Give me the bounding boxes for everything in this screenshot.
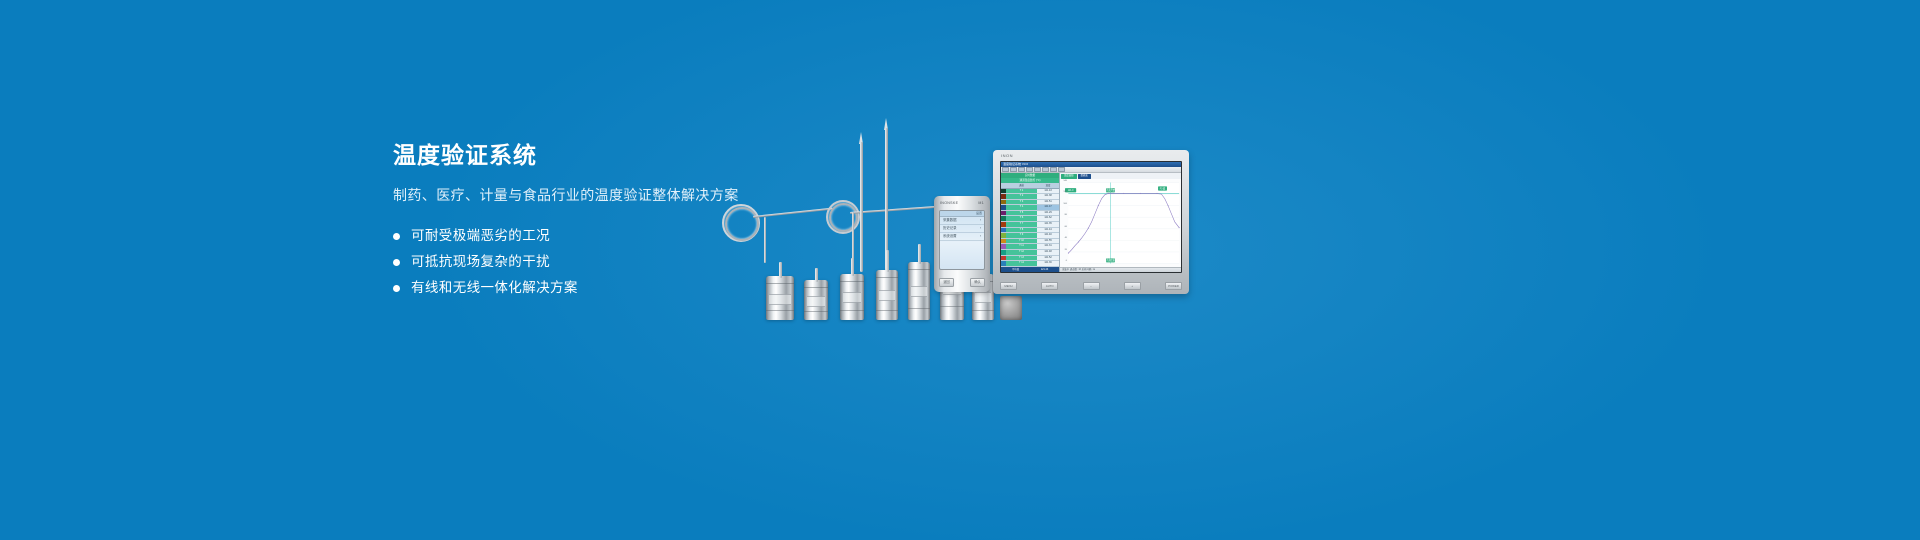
logger-stem bbox=[918, 244, 921, 264]
data-point bbox=[1078, 242, 1079, 243]
channel-value: 121.55 bbox=[1037, 239, 1059, 244]
monitor-auto-button[interactable]: AUTO bbox=[1041, 282, 1058, 290]
monitor-power-button[interactable]: POWER bbox=[1165, 282, 1182, 290]
table-footer: 平均值 121.43 bbox=[1001, 267, 1059, 272]
feature-label: 有线和无线一体化解决方案 bbox=[411, 275, 578, 301]
logger-label bbox=[843, 292, 861, 303]
menu-item-label: 采集数据 bbox=[943, 217, 957, 224]
y-axis-ticks: 140120100806040200 bbox=[1060, 179, 1068, 263]
annotation-label: 灭菌开始 bbox=[1106, 188, 1115, 192]
toolbar-print-button[interactable] bbox=[1050, 167, 1057, 173]
table-row bbox=[840, 274, 864, 320]
logger-label bbox=[879, 290, 896, 301]
toolbar-settings-button[interactable] bbox=[1058, 167, 1065, 173]
footer-label: 平均值 bbox=[1001, 267, 1030, 272]
needle-probe bbox=[860, 142, 863, 272]
logger-label bbox=[975, 292, 992, 303]
channel-value: 121.43 bbox=[1037, 189, 1059, 194]
toolbar-start-button[interactable] bbox=[1026, 167, 1033, 173]
logger-band bbox=[876, 310, 898, 311]
monitor-screen: 温度验证系统 V3.0 实时数据 通道 bbox=[1001, 162, 1181, 272]
channel-name: T 10 bbox=[1006, 239, 1037, 244]
channel-name: T 3 bbox=[1006, 200, 1037, 205]
logger-cap bbox=[840, 274, 864, 282]
y-axis-tick-label: 140 bbox=[1063, 180, 1067, 182]
logger-band bbox=[940, 306, 964, 307]
y-axis-tick-label: 20 bbox=[1065, 249, 1067, 251]
data-point bbox=[1140, 193, 1141, 194]
annotation-label: 121.0 bbox=[1068, 189, 1074, 192]
handheld-reader[interactable]: INONSKE M1 设置 采集数据 › 历史记录 › 系统设置 › bbox=[934, 196, 990, 292]
monitor-button-row: MENU AUTO − + POWER bbox=[1000, 282, 1182, 290]
monitor-plus-button[interactable]: + bbox=[1124, 282, 1141, 290]
logger-label bbox=[807, 296, 825, 307]
data-point bbox=[1179, 227, 1180, 228]
table-row bbox=[804, 280, 828, 320]
menu-item-label: 系统设置 bbox=[943, 233, 957, 240]
chevron-right-icon: › bbox=[980, 217, 981, 224]
tab-data-table[interactable]: 数据表 bbox=[1078, 174, 1091, 179]
channel-value: 121.31 bbox=[1037, 244, 1059, 249]
column-header-value: 温度 bbox=[1037, 183, 1059, 187]
y-axis-tick-label: 60 bbox=[1065, 226, 1067, 228]
annotation-label: F0 值 bbox=[1160, 186, 1166, 190]
channel-name: T 1 bbox=[1006, 189, 1037, 194]
menu-item[interactable]: 系统设置 › bbox=[940, 233, 984, 241]
logger-cap bbox=[876, 270, 898, 278]
channel-name: T 4 bbox=[1006, 205, 1037, 210]
logger-stem bbox=[886, 250, 889, 272]
channel-value: 121.38 bbox=[1037, 194, 1059, 199]
logger-cap bbox=[804, 280, 828, 288]
logger-band bbox=[804, 311, 828, 312]
y-axis-tick-label: 40 bbox=[1065, 237, 1067, 239]
logger-band bbox=[840, 310, 864, 311]
data-point bbox=[1168, 205, 1169, 206]
feature-label: 可抵抗现场复杂的干扰 bbox=[411, 249, 550, 275]
menu-item[interactable]: 历史记录 › bbox=[940, 225, 984, 233]
monitor-display: INON 温度验证系统 V3.0 bbox=[993, 150, 1189, 294]
channel-data-table: 实时数据 通道温度监控 (°C) 通道 温度 T 1121.43T 2121.3… bbox=[1001, 173, 1060, 272]
logger-band bbox=[972, 310, 994, 311]
channel-value: 121.47 bbox=[1037, 205, 1059, 210]
table-row bbox=[908, 262, 930, 320]
data-point bbox=[1157, 193, 1158, 194]
data-point bbox=[1088, 228, 1089, 229]
logger-label bbox=[911, 286, 928, 297]
channel-name: T 11 bbox=[1006, 244, 1037, 249]
column-header-channel: 通道 bbox=[1006, 183, 1037, 187]
chevron-right-icon: › bbox=[980, 225, 981, 232]
channel-name: T 14 bbox=[1006, 261, 1037, 266]
annotation-label: 灭菌结束 bbox=[1106, 258, 1115, 262]
logger-band bbox=[908, 308, 930, 309]
bullet-dot-icon bbox=[393, 259, 400, 266]
chart-annotation: 灭菌结束 bbox=[1106, 258, 1115, 262]
channel-name: T 8 bbox=[1006, 228, 1037, 233]
probe-wire-drop bbox=[764, 217, 766, 263]
channel-value: 121.48 bbox=[1037, 250, 1059, 255]
coil-probe-inner-icon bbox=[725, 207, 759, 241]
probe-wire-drop bbox=[852, 212, 854, 264]
channel-value: 121.62 bbox=[1037, 216, 1059, 221]
chart-annotation: 灭菌开始 bbox=[1106, 188, 1115, 192]
confirm-button[interactable]: 确认 bbox=[970, 278, 985, 287]
channel-value: 121.36 bbox=[1037, 261, 1059, 266]
y-axis-tick-label: 100 bbox=[1063, 203, 1067, 205]
chart-annotation: F0 值 bbox=[1158, 186, 1167, 190]
bullet-dot-icon bbox=[393, 285, 400, 292]
handheld-brand: INONSKE bbox=[940, 201, 958, 205]
monitor-menu-button[interactable]: MENU bbox=[1000, 282, 1017, 290]
status-bar: 采集中 通道数: 16 采样间隔: 1s bbox=[1060, 267, 1181, 272]
channel-value: 121.44 bbox=[1037, 228, 1059, 233]
toolbar-new-button[interactable] bbox=[1002, 167, 1009, 173]
channel-name: T 12 bbox=[1006, 250, 1037, 255]
table-row bbox=[876, 270, 898, 320]
channel-value: 121.51 bbox=[1037, 200, 1059, 205]
handheld-brandbar: INONSKE M1 bbox=[934, 201, 990, 205]
probe-wire bbox=[850, 206, 940, 214]
chart-panel: 温度曲线 数据表 140120100806040200 灭菌开始121.0灭菌结… bbox=[1060, 173, 1181, 272]
footer-value: 121.43 bbox=[1030, 267, 1059, 272]
chart-svg: 灭菌开始121.0灭菌结束F0 值 bbox=[1060, 179, 1181, 267]
logger-cap bbox=[908, 262, 930, 270]
menu-item[interactable]: 采集数据 › bbox=[940, 217, 984, 225]
logger-band bbox=[766, 310, 794, 311]
data-point bbox=[1108, 193, 1109, 194]
software-body: 实时数据 通道温度监控 (°C) 通道 温度 T 1121.43T 2121.3… bbox=[1001, 173, 1181, 272]
toolbar-open-button[interactable] bbox=[1010, 167, 1017, 173]
handheld-keypad: 返回 确认 bbox=[939, 278, 985, 287]
monitor-minus-button[interactable]: − bbox=[1083, 282, 1100, 290]
back-button[interactable]: 返回 bbox=[939, 278, 954, 287]
chevron-right-icon: › bbox=[980, 233, 981, 240]
hero-banner: 温度验证系统 制药、医疗、计量与食品行业的温度验证整体解决方案 可耐受极端恶劣的… bbox=[0, 0, 1920, 540]
tab-temperature-curve[interactable]: 温度曲线 bbox=[1061, 174, 1077, 179]
channel-name: T 7 bbox=[1006, 222, 1037, 227]
channel-value: 121.35 bbox=[1037, 222, 1059, 227]
bullet-dot-icon bbox=[393, 233, 400, 240]
y-axis-tick-label: 80 bbox=[1065, 214, 1067, 216]
data-point bbox=[1123, 193, 1124, 194]
sintered-filter-block bbox=[1000, 296, 1022, 320]
monitor-bezel: 温度验证系统 V3.0 实时数据 通道 bbox=[1000, 161, 1182, 273]
channel-name: T 13 bbox=[1006, 256, 1037, 261]
data-point bbox=[1068, 253, 1069, 254]
logger-label bbox=[769, 294, 790, 305]
y-axis-tick-label: 120 bbox=[1063, 191, 1067, 193]
data-point bbox=[1098, 205, 1099, 206]
y-axis-tick-label: 0 bbox=[1066, 260, 1067, 262]
channel-value: 121.40 bbox=[1037, 233, 1059, 238]
table-body: T 1121.43T 2121.38T 3121.51T 4121.47T 51… bbox=[1001, 189, 1059, 268]
channel-name: T 2 bbox=[1006, 194, 1037, 199]
logger-cap bbox=[766, 276, 794, 284]
toolbar-stop-button[interactable] bbox=[1034, 167, 1041, 173]
handheld-model: M1 bbox=[978, 201, 984, 205]
menu-item-label: 历史记录 bbox=[943, 225, 957, 232]
table-row bbox=[766, 276, 794, 320]
channel-value: 121.29 bbox=[1037, 211, 1059, 216]
channel-name: T 6 bbox=[1006, 216, 1037, 221]
toolbar-export-button[interactable] bbox=[1042, 167, 1049, 173]
temperature-chart: 140120100806040200 灭菌开始121.0灭菌结束F0 值 bbox=[1060, 179, 1181, 267]
monitor-brand: INON bbox=[1001, 153, 1013, 158]
handheld-screen: 设置 采集数据 › 历史记录 › 系统设置 › bbox=[939, 210, 985, 270]
channel-name: T 9 bbox=[1006, 233, 1037, 238]
channel-value: 121.52 bbox=[1037, 256, 1059, 261]
toolbar-save-button[interactable] bbox=[1018, 167, 1025, 173]
feature-label: 可耐受极端恶劣的工况 bbox=[411, 223, 550, 249]
plot-background bbox=[1068, 182, 1179, 263]
product-photo-group: INONSKE M1 设置 采集数据 › 历史记录 › 系统设置 › bbox=[700, 120, 1220, 320]
channel-name: T 5 bbox=[1006, 211, 1037, 216]
